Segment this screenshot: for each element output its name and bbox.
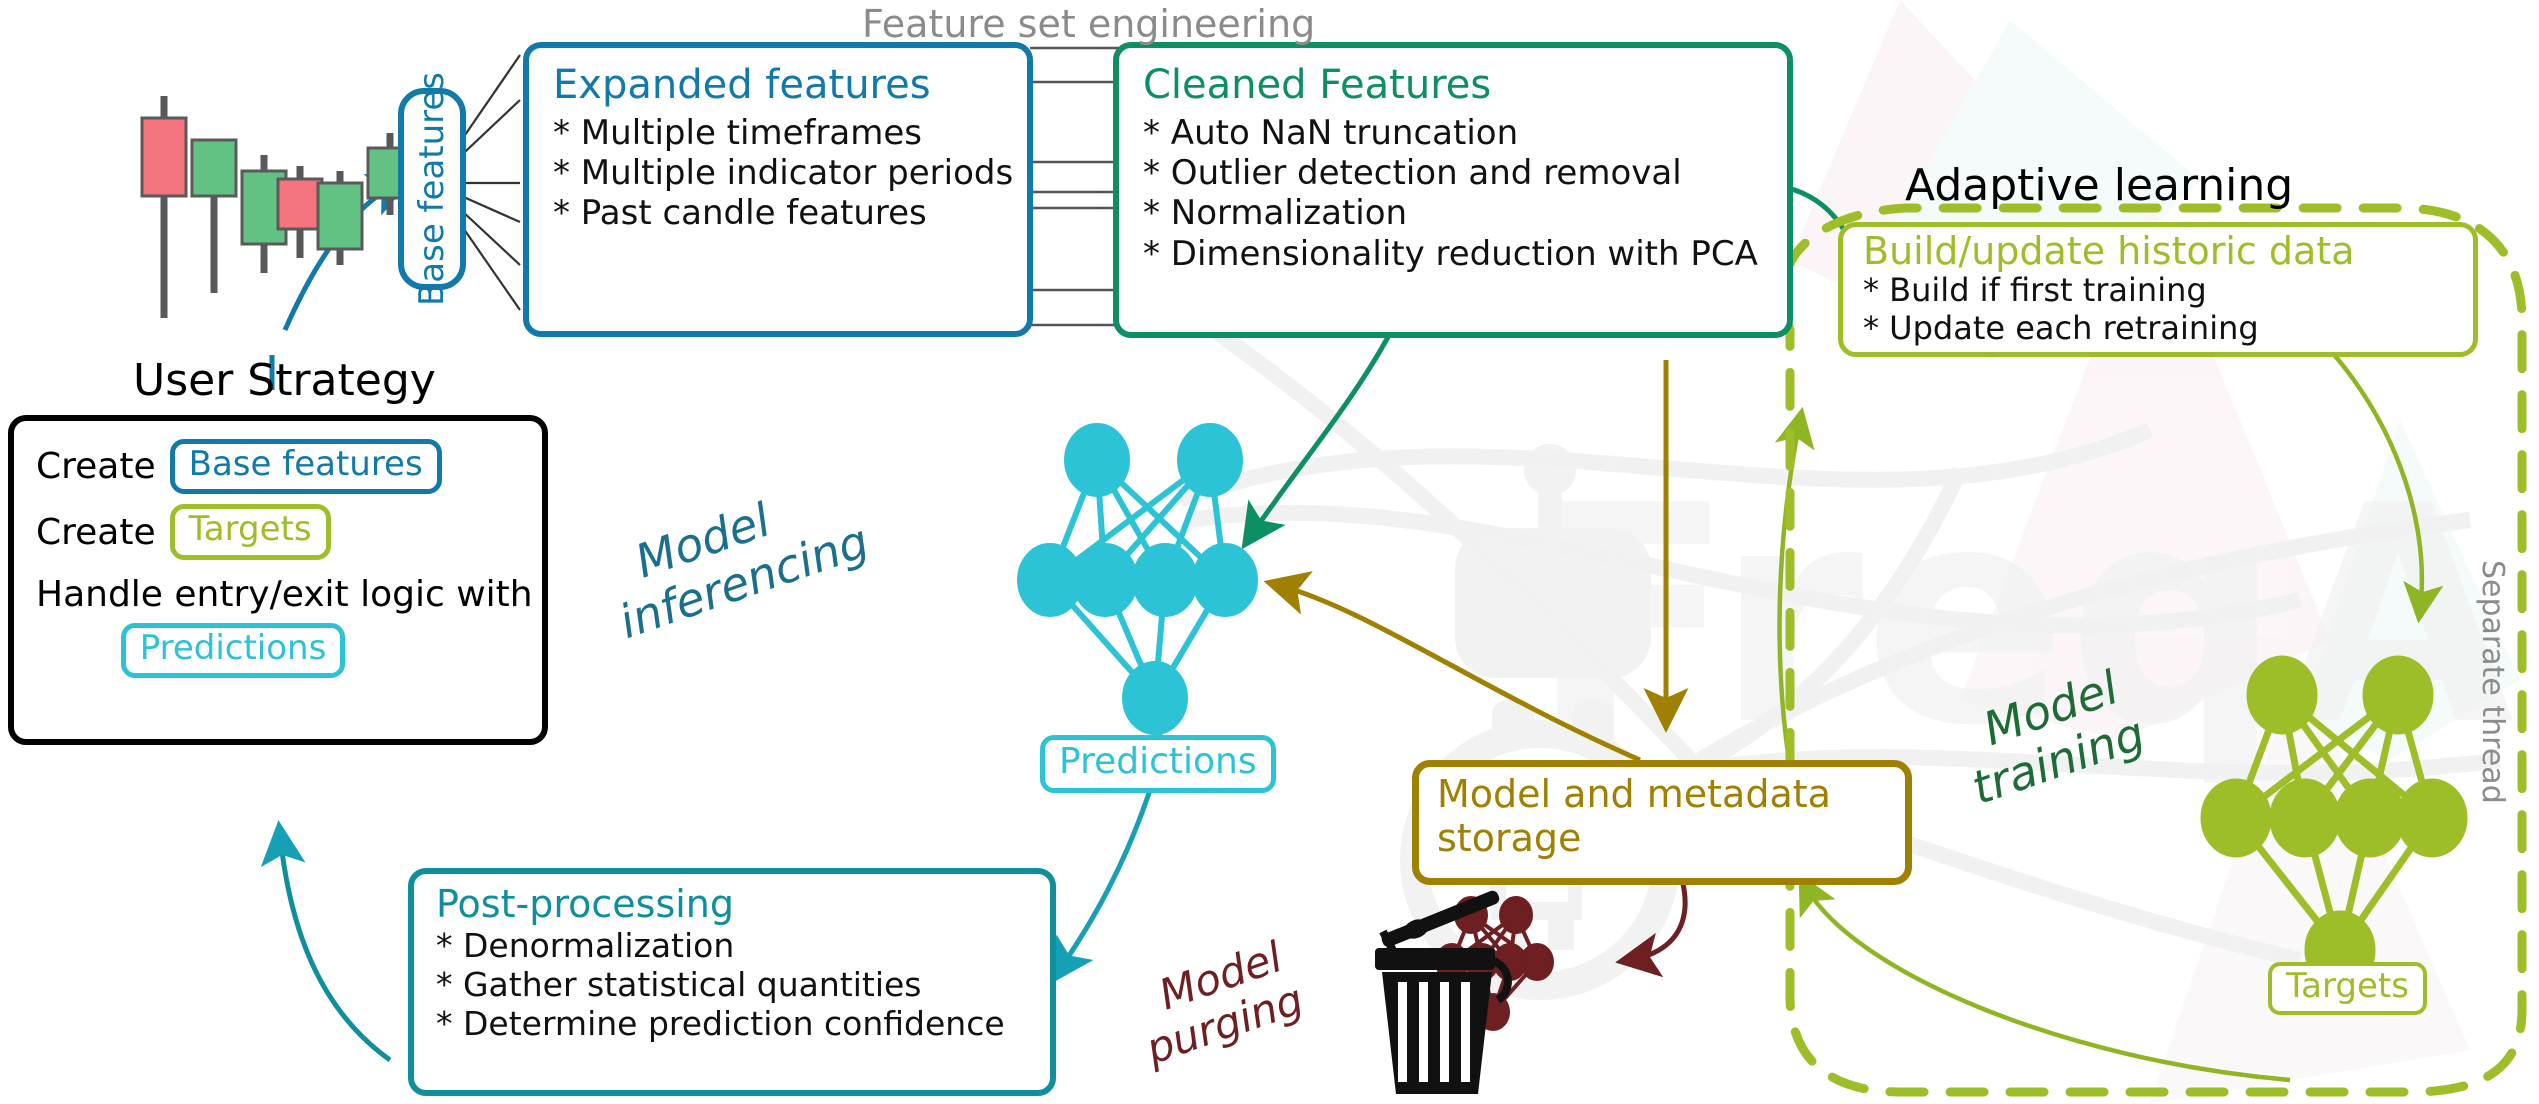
- post-processing-box[interactable]: Post-processing * Denormalization * Gath…: [408, 868, 1056, 1096]
- build-update-title: Build/update historic data: [1863, 231, 2453, 272]
- list-item: * Multiple indicator periods: [553, 153, 1003, 193]
- list-item: * Auto NaN truncation: [1143, 113, 1763, 153]
- base-features-pill-strategy[interactable]: Base features: [170, 439, 442, 494]
- model-storage-line1: Model and metadata: [1437, 773, 1887, 817]
- cleaned-features-title: Cleaned Features: [1143, 64, 1763, 107]
- training-neural-network: [2204, 659, 2464, 986]
- base-features-pill-label: Base features: [412, 72, 452, 306]
- base-features-pill[interactable]: Base features: [398, 88, 466, 290]
- feature-set-engineering-label: Feature set engineering: [862, 2, 1315, 46]
- user-strategy-label: User Strategy: [133, 355, 436, 406]
- create-label-1: Create: [36, 446, 156, 487]
- targets-pill-training[interactable]: Targets: [2268, 962, 2427, 1015]
- separate-thread-label: Separate thread: [2475, 560, 2510, 804]
- expanded-features-list: * Multiple timeframes * Multiple indicat…: [553, 113, 1003, 233]
- targets-pill-strategy[interactable]: Targets: [170, 504, 331, 559]
- build-update-historic-box[interactable]: Build/update historic data * Build if fi…: [1838, 222, 2478, 357]
- list-item: * Normalization: [1143, 193, 1763, 233]
- list-item: * Multiple timeframes: [553, 113, 1003, 153]
- targets-pill-training-wrap: Targets: [2268, 962, 2427, 1015]
- expanded-features-title: Expanded features: [553, 64, 1003, 107]
- expanded-features-box[interactable]: Expanded features * Multiple timeframes …: [523, 42, 1033, 337]
- strategy-row-base-features: Create Base features: [36, 439, 520, 494]
- adaptive-learning-label: Adaptive learning: [1905, 160, 2293, 211]
- predictions-pill-center-wrap: Predictions: [1040, 735, 1276, 793]
- inference-neural-network: [1020, 426, 1255, 732]
- strategy-row-predictions: Predictions: [36, 623, 520, 678]
- build-update-list: * Build if first training * Update each …: [1863, 272, 2453, 348]
- candlestick-chart: [142, 96, 412, 318]
- cleaned-features-list: * Auto NaN truncation * Outlier detectio…: [1143, 113, 1763, 273]
- list-item: * Gather statistical quantities: [436, 966, 1028, 1005]
- list-item: * Denormalization: [436, 927, 1028, 966]
- strategy-row-targets: Create Targets: [36, 504, 520, 559]
- user-strategy-box[interactable]: Create Base features Create Targets Hand…: [8, 415, 548, 745]
- diagram-canvas: FreqAI: [0, 0, 2539, 1104]
- trash-can-icon: [1375, 889, 1508, 1094]
- predictions-pill-center[interactable]: Predictions: [1040, 735, 1276, 793]
- predictions-pill-strategy[interactable]: Predictions: [121, 623, 346, 678]
- list-item: * Update each retraining: [1863, 310, 2453, 348]
- model-storage-line2: storage: [1437, 817, 1887, 861]
- handle-entry-exit-label: Handle entry/exit logic with: [36, 574, 520, 615]
- list-item: * Past candle features: [553, 193, 1003, 233]
- post-processing-title: Post-processing: [436, 884, 1028, 925]
- post-processing-list: * Denormalization * Gather statistical q…: [436, 927, 1028, 1044]
- list-item: * Outlier detection and removal: [1143, 153, 1763, 193]
- list-item: * Determine prediction confidence: [436, 1005, 1028, 1044]
- list-item: * Dimensionality reduction with PCA: [1143, 234, 1763, 274]
- create-label-2: Create: [36, 512, 156, 553]
- model-storage-box[interactable]: Model and metadata storage: [1412, 760, 1912, 885]
- cleaned-features-box[interactable]: Cleaned Features * Auto NaN truncation *…: [1113, 42, 1793, 338]
- list-item: * Build if first training: [1863, 272, 2453, 310]
